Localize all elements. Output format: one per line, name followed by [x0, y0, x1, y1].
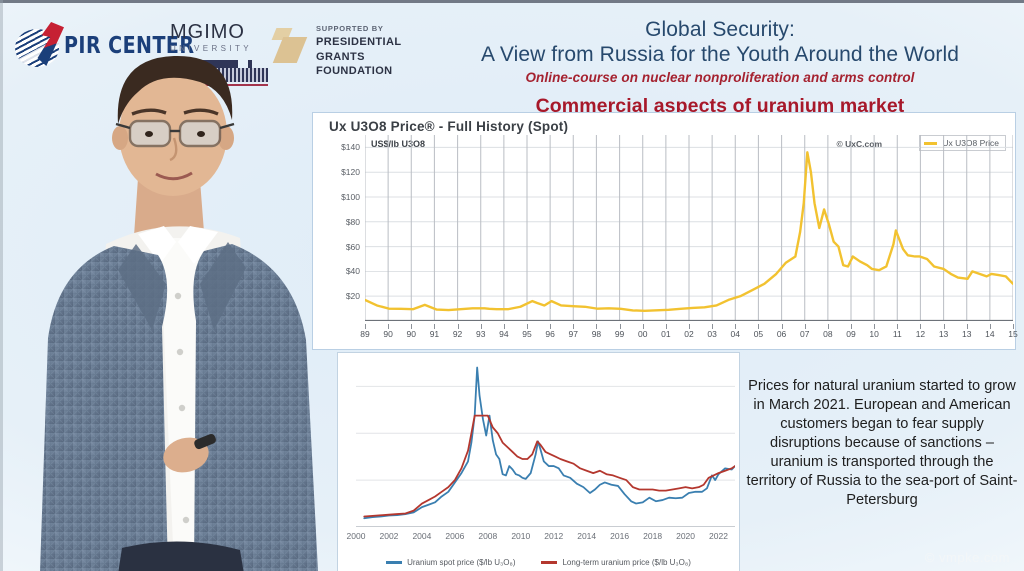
y-tick: $100	[341, 192, 360, 202]
x-tick: 2002	[379, 531, 398, 541]
x-tick: 15	[1008, 329, 1017, 339]
x-tick: 94	[499, 329, 508, 339]
x-tick: 13	[939, 329, 948, 339]
x-tick: 06	[777, 329, 786, 339]
x-tick: 09	[846, 329, 855, 339]
slide-header: Global Security: A View from Russia for …	[420, 18, 1020, 118]
x-tick: 97	[569, 329, 578, 339]
y-tick: $120	[341, 167, 360, 177]
x-tick: 2008	[478, 531, 497, 541]
presenter-video	[10, 28, 340, 571]
x-tick: 92	[453, 329, 462, 339]
legend-swatch-longterm	[541, 561, 557, 564]
y-tick: $80	[346, 217, 360, 227]
x-tick: 2004	[412, 531, 431, 541]
chart-uranium-spot-vs-longterm: 2000200220042006200820102012201420162018…	[337, 352, 740, 571]
x-tick: 96	[545, 329, 554, 339]
y-tick: $60	[346, 242, 360, 252]
chart-title: Ux U3O8 Price® - Full History (Spot)	[329, 119, 568, 134]
x-tick: 95	[522, 329, 531, 339]
x-tick: 98	[592, 329, 601, 339]
x-tick: 2014	[577, 531, 596, 541]
x-tick: 13	[962, 329, 971, 339]
course-title-line-1: Global Security:	[420, 18, 1020, 43]
x-tick: 07	[800, 329, 809, 339]
x-tick: 00	[638, 329, 647, 339]
y-tick: $20	[346, 291, 360, 301]
course-title-line-2: A View from Russia for the Youth Around …	[420, 43, 1020, 68]
x-tick: 2010	[511, 531, 530, 541]
x-tick: 04	[731, 329, 740, 339]
x-tick: 03	[707, 329, 716, 339]
x-tick: 05	[754, 329, 763, 339]
chart-x-tick-labels: 8990909192939495969798990001020304050607…	[365, 329, 1013, 343]
chart2-x-tick-labels: 2000200220042006200820102012201420162018…	[356, 531, 735, 545]
chart-ux-u3o8-full-history: Ux U3O8 Price® - Full History (Spot) US$…	[312, 112, 1016, 350]
x-tick: 89	[360, 329, 369, 339]
legend-label-spot: Uranium spot price ($/lb U₃O₈)	[407, 558, 515, 567]
slide-left-border	[0, 0, 3, 571]
x-tick: 2020	[676, 531, 695, 541]
x-tick: 2006	[445, 531, 464, 541]
x-tick: 90	[383, 329, 392, 339]
x-tick: 2012	[544, 531, 563, 541]
x-tick: 93	[476, 329, 485, 339]
x-tick: 14	[985, 329, 994, 339]
x-tick: 10	[869, 329, 878, 339]
y-tick: $40	[346, 266, 360, 276]
chart-plot-area	[365, 135, 1013, 321]
legend-item-longterm: Long-term uranium price ($/lb U₃O₈)	[541, 558, 690, 567]
chart-y-tick-labels: $140$120$100$80$60$40$20	[313, 135, 365, 321]
x-tick: 08	[823, 329, 832, 339]
chart2-legend: Uranium spot price ($/lb U₃O₈) Long-term…	[338, 558, 739, 567]
x-tick: 99	[615, 329, 624, 339]
x-tick: 02	[684, 329, 693, 339]
slide-top-border	[0, 0, 1024, 3]
legend-label-longterm: Long-term uranium price ($/lb U₃O₈)	[562, 558, 690, 567]
slide-canvas: PIR CENTER MGIMO UNIVERSITY SUPPORTED BY…	[0, 0, 1024, 571]
explanatory-text: Prices for natural uranium started to gr…	[744, 377, 1020, 510]
x-tick: 01	[661, 329, 670, 339]
chart2-plot-area	[356, 357, 735, 527]
x-tick: 91	[430, 329, 439, 339]
x-tick: 11	[893, 329, 902, 339]
y-tick: $140	[341, 142, 360, 152]
x-tick: 2016	[610, 531, 629, 541]
legend-swatch-spot	[386, 561, 402, 564]
x-tick: 90	[407, 329, 416, 339]
x-tick: 12	[916, 329, 925, 339]
legend-item-spot: Uranium spot price ($/lb U₃O₈)	[386, 558, 515, 567]
watermark: © vmpke.com	[925, 550, 1010, 565]
x-tick: 2000	[347, 531, 366, 541]
x-tick: 2018	[643, 531, 662, 541]
course-subtitle: Online-course on nuclear nonproliferatio…	[420, 70, 1020, 85]
x-tick: 2022	[709, 531, 728, 541]
